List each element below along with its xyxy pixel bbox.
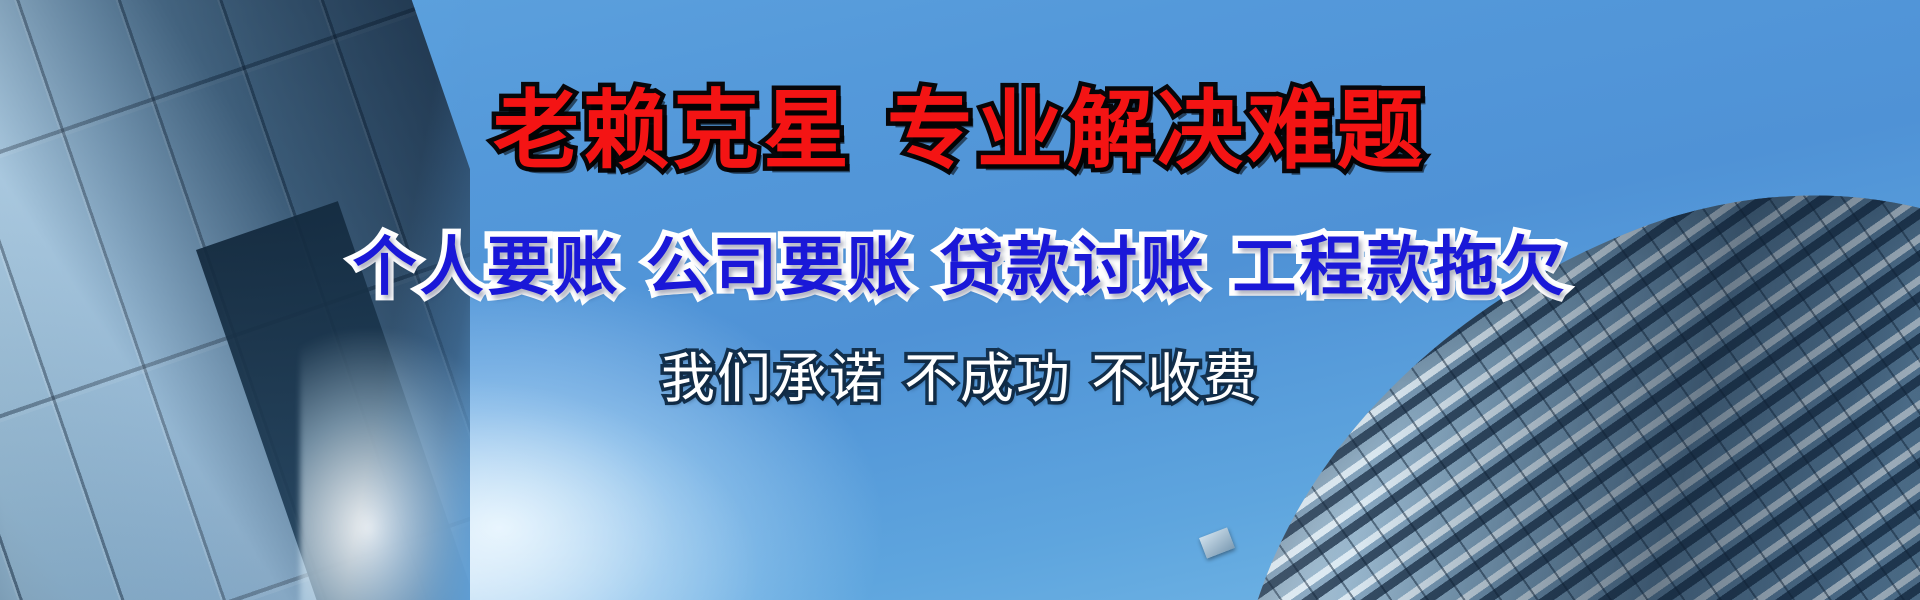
banner-services-line: 个人要账 公司要账 贷款讨账 工程款拖欠 [0, 236, 1920, 300]
promo-banner: 老赖克星 专业解决难题 个人要账 公司要账 贷款讨账 工程款拖欠 我们承诺 不成… [0, 0, 1920, 600]
banner-promise-line: 我们承诺 不成功 不收费 [0, 352, 1920, 406]
banner-headline: 老赖克星 专业解决难题 [0, 88, 1920, 174]
right-tower-rooftop-unit [1199, 527, 1235, 558]
